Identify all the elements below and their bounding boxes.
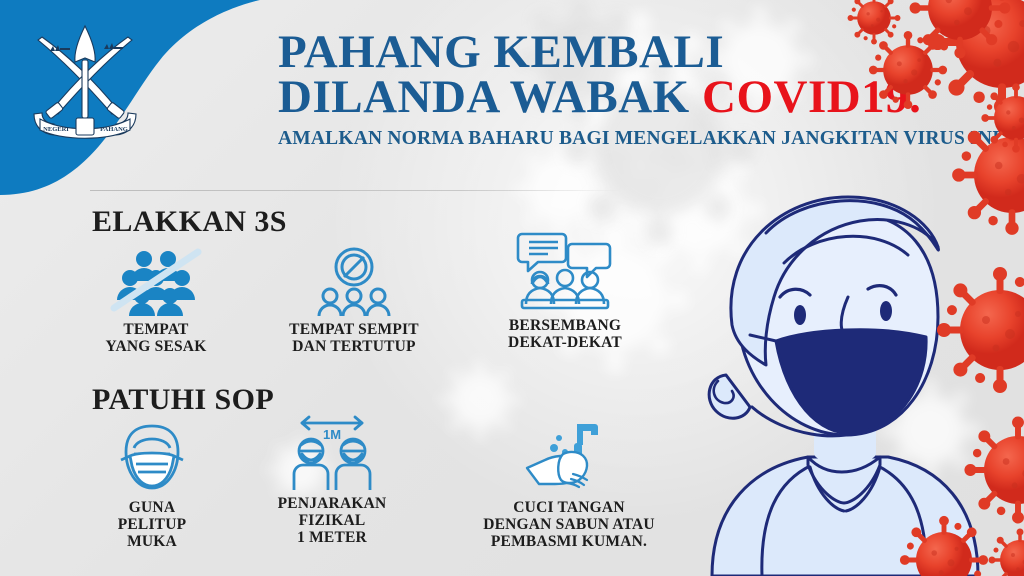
- face-mask-icon: [112, 422, 192, 494]
- poster-canvas: NEGERI PAHANG PAHANG KEMBALI DILANDA WAB…: [0, 0, 1024, 576]
- icon-container: 1M: [244, 418, 420, 490]
- item-tempat-sempit: TEMPAT SEMPIT DAN TERTUTUP: [268, 244, 440, 355]
- item-bersembang-dekat: BERSEMBANG DEKAT-DEKAT: [470, 240, 660, 351]
- item-caption: GUNA PELITUP MUKA: [82, 499, 222, 550]
- masked-man-illustration: [690, 185, 990, 576]
- section-divider: [90, 190, 620, 191]
- item-penjarakan-fizikal: 1M PENJARAKAN FIZIKAL 1 METER: [244, 418, 420, 546]
- section-heading-patuhi-sop: PATUHI SOP: [92, 383, 274, 417]
- icon-container: [92, 244, 220, 316]
- headline-subtitle: AMALKAN NORMA BAHARU BAGI MENGELAKKAN JA…: [278, 129, 978, 149]
- icon-container: [268, 244, 440, 316]
- item-caption: TEMPAT YANG SESAK: [92, 321, 220, 355]
- item-guna-pelitup-muka: GUNA PELITUP MUKA: [82, 422, 222, 550]
- item-caption: CUCI TANGAN DENGAN SABUN ATAU PEMBASMI K…: [444, 499, 694, 550]
- icon-container: [82, 422, 222, 494]
- crowd-crossed-out-icon: [106, 246, 206, 316]
- headline-covid-label: COVID19.: [702, 71, 921, 123]
- handwashing-icon: [523, 422, 615, 494]
- no-entry-confined-space-icon: [311, 246, 397, 316]
- crest-ribbon-left: NEGERI: [43, 126, 69, 133]
- item-cuci-tangan: CUCI TANGAN DENGAN SABUN ATAU PEMBASMI K…: [444, 422, 694, 550]
- item-caption: TEMPAT SEMPIT DAN TERTUTUP: [268, 321, 440, 355]
- distance-label: 1M: [323, 427, 341, 442]
- item-tempat-yang-sesak: TEMPAT YANG SESAK: [92, 244, 220, 355]
- headline-line-2: DILANDA WABAK COVID19.: [278, 75, 978, 120]
- item-caption: BERSEMBANG DEKAT-DEKAT: [470, 317, 660, 351]
- pahang-crest-logo: NEGERI PAHANG: [20, 18, 150, 143]
- icon-container: [444, 422, 694, 494]
- section-heading-elakkan-3s: ELAKKAN 3S: [92, 205, 287, 239]
- icon-container: [470, 240, 660, 312]
- headline-block: PAHANG KEMBALI DILANDA WABAK COVID19. AM…: [278, 30, 978, 149]
- crest-ribbon-right: PAHANG: [100, 126, 128, 133]
- people-chatting-icon: [510, 230, 620, 312]
- headline-line-2-main: DILANDA WABAK: [278, 71, 702, 123]
- item-caption: PENJARAKAN FIZIKAL 1 METER: [244, 495, 420, 546]
- physical-distancing-icon: 1M: [280, 414, 384, 490]
- headline-line-1: PAHANG KEMBALI: [278, 30, 978, 75]
